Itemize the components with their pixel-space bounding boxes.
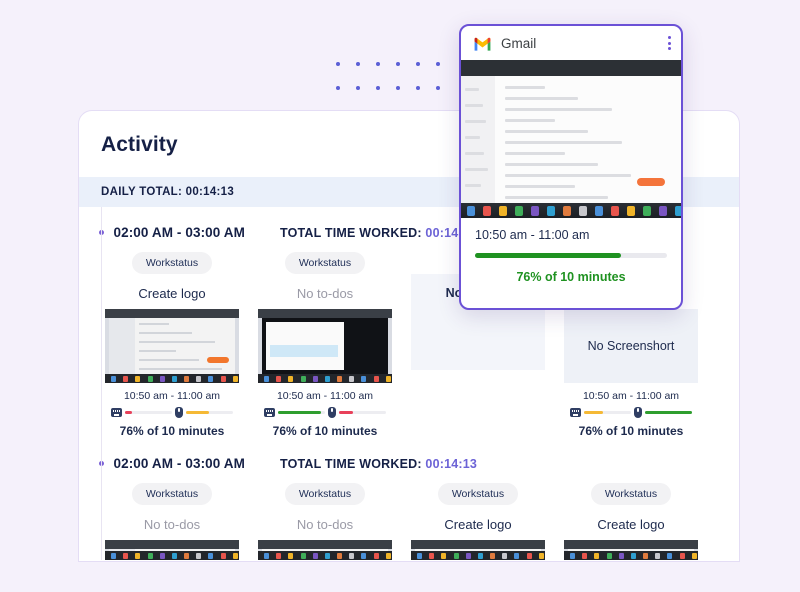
card-meta: 10:50 am - 11:00 am76% of 10 minutes xyxy=(564,383,698,438)
screenshot-menubar xyxy=(461,60,681,76)
activity-card[interactable]: WorkstatusNo to-dos xyxy=(105,483,239,560)
dot xyxy=(396,62,400,66)
dot xyxy=(336,62,340,66)
timeline-header: 02:00 AM - 03:00 AMTOTAL TIME WORKED: 00… xyxy=(79,438,739,471)
mouse-activity-track xyxy=(186,411,233,414)
card-meta: 10:50 am - 11:00 am76% of 10 minutes xyxy=(258,383,392,438)
dot xyxy=(436,86,440,90)
kebab-dot xyxy=(668,42,671,45)
keyboard-activity-track xyxy=(584,411,631,414)
screenshot-sidebar xyxy=(461,76,495,203)
keyboard-activity-track xyxy=(125,411,172,414)
card-todo-label: No to-dos xyxy=(258,517,392,532)
card-todo-label: Create logo xyxy=(105,286,239,301)
gmail-logo-icon xyxy=(473,36,492,51)
mouse-activity-track xyxy=(645,411,692,414)
card-percent-label: 76% of 10 minutes xyxy=(570,424,692,438)
card-percent-label: 76% of 10 minutes xyxy=(111,424,233,438)
keyboard-icon xyxy=(570,408,581,417)
card-time-range: 10:50 am - 11:00 am xyxy=(570,390,692,402)
gmail-popup[interactable]: Gmail 10:50 am - 11:00 am 76% of 10 minu… xyxy=(459,24,683,310)
dot xyxy=(376,86,380,90)
card-time-range: 10:50 am - 11:00 am xyxy=(111,390,233,402)
keyboard-icon xyxy=(111,408,122,417)
card-todo-label: No to-dos xyxy=(258,286,392,301)
popup-time-range: 10:50 am - 11:00 am xyxy=(475,228,667,242)
activity-card[interactable]: WorkstatusNo to-dos xyxy=(258,483,392,560)
screenshot-thumbnail[interactable] xyxy=(411,540,545,560)
activity-card[interactable]: WorkstatusNo to-dos10:50 am - 11:00 am76… xyxy=(258,252,392,438)
card-todo-label: Create logo xyxy=(564,517,698,532)
kebab-dot xyxy=(668,36,671,39)
mouse-activity-track xyxy=(339,411,386,414)
kebab-dot xyxy=(668,47,671,50)
decorative-dot-grid xyxy=(336,62,456,110)
popup-meta: 10:50 am - 11:00 am 76% of 10 minutes xyxy=(461,218,681,284)
screenshot-thumbnail[interactable] xyxy=(258,309,392,383)
card-percent-label: 76% of 10 minutes xyxy=(264,424,386,438)
workstatus-pill[interactable]: Workstatus xyxy=(285,483,365,505)
keyboard-icon xyxy=(264,408,275,417)
dot xyxy=(356,62,360,66)
workstatus-pill[interactable]: Workstatus xyxy=(132,483,212,505)
activity-card[interactable]: WorkstatusCreate logo xyxy=(564,483,698,560)
screenshot-thumbnail[interactable] xyxy=(105,309,239,383)
popup-progress-fill xyxy=(475,253,621,258)
workstatus-pill[interactable]: Workstatus xyxy=(438,483,518,505)
workstatus-pill[interactable]: Workstatus xyxy=(591,483,671,505)
dot xyxy=(436,62,440,66)
timeline-group: 02:00 AM - 03:00 AMTOTAL TIME WORKED: 00… xyxy=(79,438,739,560)
popup-app-name: Gmail xyxy=(501,36,668,51)
card-todo-label: No to-dos xyxy=(105,517,239,532)
screenshot-dock xyxy=(461,203,681,218)
total-time-worked: TOTAL TIME WORKED: 00:14:13 xyxy=(280,226,477,240)
dot xyxy=(416,62,420,66)
activity-bars xyxy=(111,407,233,418)
popup-header: Gmail xyxy=(461,26,681,60)
mouse-icon xyxy=(328,407,336,418)
screenshot-thumbnail[interactable] xyxy=(105,540,239,560)
activity-bars xyxy=(264,407,386,418)
timeline-time-range: 02:00 AM - 03:00 AM xyxy=(114,456,245,471)
dot xyxy=(416,86,420,90)
screenshot-thumbnail[interactable] xyxy=(564,540,698,560)
keyboard-activity-track xyxy=(278,411,325,414)
dot xyxy=(336,86,340,90)
dot xyxy=(356,86,360,90)
dot xyxy=(396,86,400,90)
popup-screenshot-preview[interactable] xyxy=(461,60,681,218)
activity-card[interactable]: WorkstatusCreate logo xyxy=(411,483,545,560)
card-todo-label: Create logo xyxy=(411,517,545,532)
workstatus-pill[interactable]: Workstatus xyxy=(132,252,212,274)
card-meta: 10:50 am - 11:00 am76% of 10 minutes xyxy=(105,383,239,438)
kebab-menu-icon[interactable] xyxy=(668,36,671,50)
screenshot-button-highlight xyxy=(637,178,665,186)
timeline-line xyxy=(101,207,102,438)
mouse-icon xyxy=(634,407,642,418)
popup-percent-label: 76% of 10 minutes xyxy=(475,270,667,284)
activity-card[interactable]: WorkstatusCreate logo10:50 am - 11:00 am… xyxy=(105,252,239,438)
total-time-worked: TOTAL TIME WORKED: 00:14:13 xyxy=(280,457,477,471)
workstatus-pill[interactable]: Workstatus xyxy=(285,252,365,274)
mouse-icon xyxy=(175,407,183,418)
popup-progress-track xyxy=(475,253,667,258)
card-row: WorkstatusNo to-dosWorkstatusNo to-dosWo… xyxy=(101,471,739,560)
screenshot-thumbnail[interactable] xyxy=(258,540,392,560)
timeline-line xyxy=(101,438,102,560)
no-screenshot-block: No Screenshort xyxy=(564,309,698,383)
timeline-time-range: 02:00 AM - 03:00 AM xyxy=(114,225,245,240)
activity-bars xyxy=(570,407,692,418)
card-time-range: 10:50 am - 11:00 am xyxy=(264,390,386,402)
dot xyxy=(376,62,380,66)
